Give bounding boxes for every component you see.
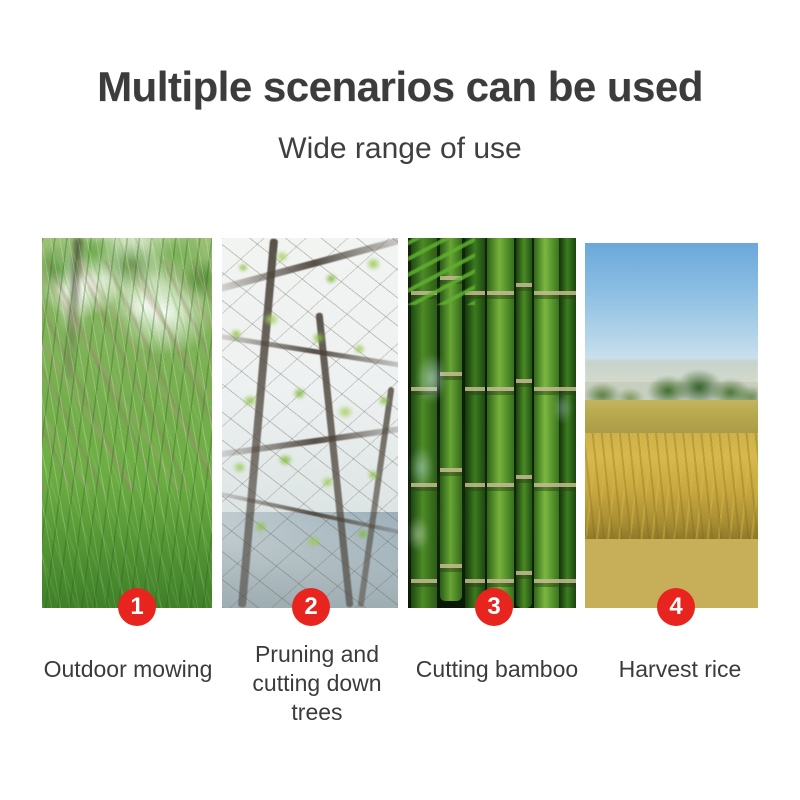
scenario-image-4: [585, 243, 758, 608]
grass-meadow-photo: [42, 238, 212, 608]
scenario-caption-4: Harvest rice: [598, 655, 762, 684]
scenario-image-3: [408, 238, 576, 608]
rice-field-photo: [585, 243, 758, 608]
spring-leaf-layer: [222, 238, 398, 608]
distant-treeline: [585, 360, 758, 404]
page-subtitle: Wide range of use: [0, 110, 800, 165]
page-title: Multiple scenarios can be used: [0, 0, 800, 110]
step-badge-4: 4: [657, 588, 695, 626]
rice-crop-layer: [585, 433, 758, 543]
foreground-shade: [42, 482, 212, 608]
scenario-caption-1: Outdoor mowing: [28, 655, 228, 684]
step-badge-3: 3: [475, 588, 513, 626]
scenario-caption-3: Cutting bamboo: [404, 655, 590, 684]
bamboo-leaf-layer: [408, 238, 475, 305]
step-badge-1: 1: [118, 588, 156, 626]
scenario-gallery: [42, 238, 758, 608]
bamboo-grove-photo: [408, 238, 576, 608]
scenario-caption-2: Pruning and cutting down trees: [228, 640, 406, 726]
header: Multiple scenarios can be used Wide rang…: [0, 0, 800, 165]
scenario-image-1: [42, 238, 212, 608]
step-badge-2: 2: [292, 588, 330, 626]
scenario-image-2: [222, 238, 398, 608]
tree-branches-photo: [222, 238, 398, 608]
midground-field: [585, 400, 758, 437]
